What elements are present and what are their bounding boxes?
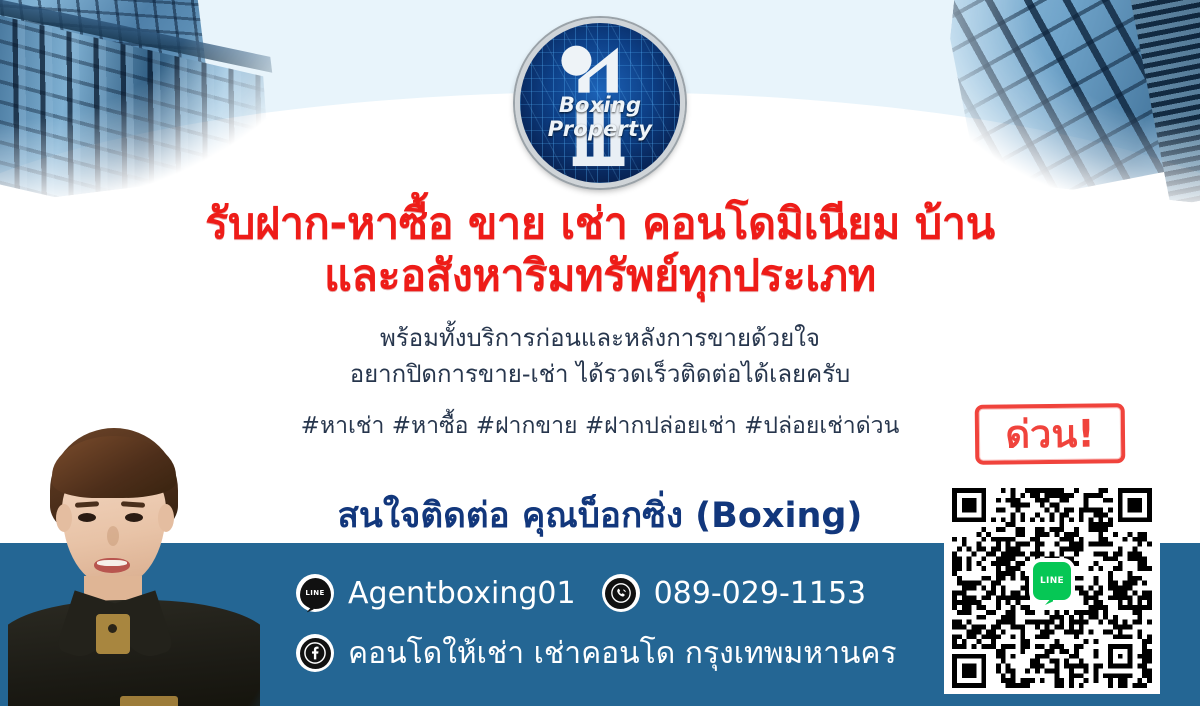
urgent-stamp-label: ด่วน!: [1005, 415, 1095, 454]
agent-eye-right: [125, 513, 143, 522]
phone-glyph: [611, 583, 631, 603]
agent-eye-left: [78, 513, 96, 522]
headline-line-1: รับฝาก-หาซื้อ ขาย เช่า คอนโดมิเนียม บ้าน: [205, 199, 995, 249]
facebook-glyph: [304, 642, 326, 664]
headline-line-2: และอสังหาริมทรัพย์ทุกประเภท: [0, 250, 1200, 302]
agent-mouth: [94, 558, 130, 573]
phone-number-text[interactable]: 089-029-1153: [654, 576, 867, 611]
footer-row-facebook: คอนโดให้เช่า เช่าคอนโด กรุงเทพมหานคร: [296, 626, 897, 680]
boxing-property-logo: Boxing Property: [515, 18, 685, 188]
skyscraper-photo-right: [936, 0, 1200, 203]
footer-row-line-phone: LINE Agentboxing01 089-029-1153: [296, 566, 897, 620]
facebook-page-text[interactable]: คอนโดให้เช่า เช่าคอนโด กรุงเทพมหานคร: [348, 630, 897, 677]
agent-ear-left: [56, 504, 72, 532]
agent-pocket: [120, 696, 178, 706]
line-icon-label: LINE: [305, 589, 324, 597]
facebook-icon-inner: [300, 638, 331, 669]
page-title: รับฝาก-หาซื้อ ขาย เช่า คอนโดมิเนียม บ้าน…: [0, 198, 1200, 303]
line-bubble-shape: LINE: [300, 578, 331, 609]
agent-button: [108, 624, 117, 633]
agent-portrait-mask: [8, 418, 260, 706]
subheadline-line-2: อยากปิดการขาย-เช่า ได้รวดเร็วติดต่อได้เล…: [0, 356, 1200, 392]
subheadline-line-1: พร้อมทั้งบริการก่อนและหลังการขายด้วยใจ: [0, 320, 1200, 356]
urgent-stamp: ด่วน!: [975, 403, 1126, 465]
property-advertisement-poster: Boxing Property รับฝาก-หาซื้อ ขาย เช่า ค…: [0, 0, 1200, 706]
phone-icon-inner: [605, 578, 636, 609]
line-id-text[interactable]: Agentboxing01: [348, 576, 576, 611]
agent-nose: [107, 526, 119, 546]
qr-line-logo: LINE: [1029, 558, 1075, 604]
agent-placket: [96, 614, 130, 654]
qr-line-logo-label: LINE: [1040, 576, 1064, 586]
phone-icon[interactable]: [602, 574, 640, 612]
footer-contact-list: LINE Agentboxing01 089-029-1153: [296, 566, 897, 680]
line-icon[interactable]: LINE: [296, 574, 334, 612]
agent-portrait: [8, 418, 260, 706]
subheadline: พร้อมทั้งบริการก่อนและหลังการขายด้วยใจ อ…: [0, 320, 1200, 392]
agent-ear-right: [158, 504, 174, 532]
logo-wordmark: Boxing Property: [520, 93, 680, 141]
facebook-icon[interactable]: [296, 634, 334, 672]
